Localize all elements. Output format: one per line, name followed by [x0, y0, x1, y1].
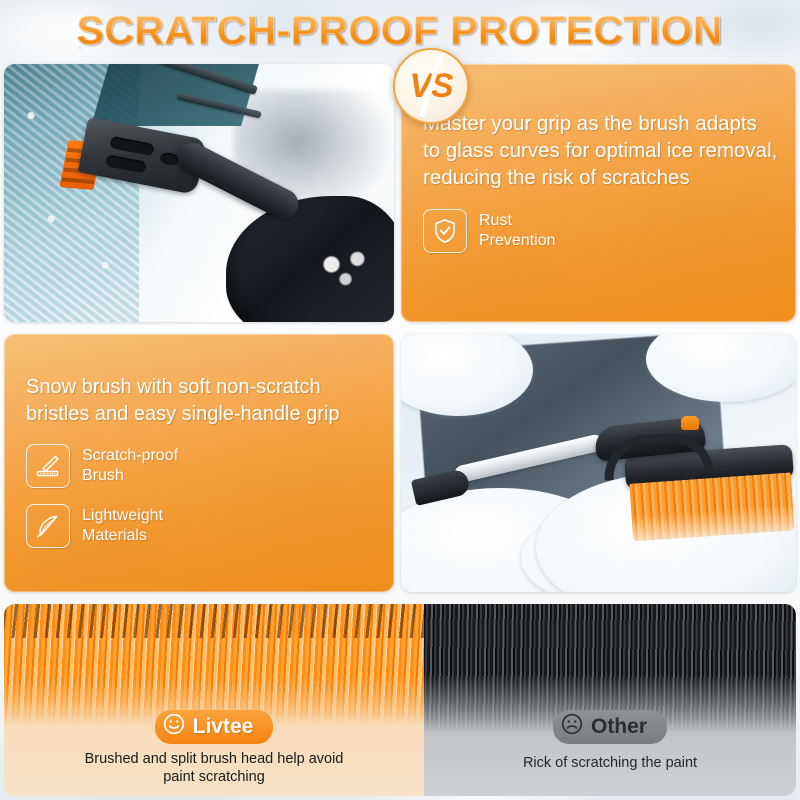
infographic-page: SCRATCH-PROOF PROTECTION: [0, 0, 800, 800]
page-header: SCRATCH-PROOF PROTECTION: [0, 0, 800, 62]
other-badge-row: Other: [424, 710, 796, 744]
livtee-caption: Brushed and split brush head help avoid …: [4, 750, 424, 786]
other-caption: Rick of scratching the paint: [424, 754, 796, 772]
shield-check-icon: [423, 209, 467, 253]
grip-feature-list: Rust Prevention: [423, 209, 778, 253]
snow-brush-tool: [407, 412, 796, 542]
sad-face-icon: [561, 713, 583, 741]
comparison-good-side: Livtee Brushed and split brush head help…: [4, 604, 424, 796]
livtee-badge-label: Livtee: [193, 715, 254, 739]
livtee-badge: Livtee: [155, 710, 274, 744]
snow-on-glove: [314, 246, 384, 292]
page-title: SCRATCH-PROOF PROTECTION: [77, 9, 723, 54]
grip-headline: Master your grip as the brush adapts to …: [423, 110, 778, 191]
snow-brush-photo-panel: [401, 334, 796, 592]
feature-label: Lightweight Materials: [82, 506, 163, 546]
comparison-panel: Livtee Brushed and split brush head help…: [4, 604, 796, 796]
squeegee-brush-icon: [26, 444, 70, 488]
livtee-badge-row: Livtee: [4, 710, 424, 744]
livtee-bristles-image: [4, 604, 424, 724]
feature-label: Rust Prevention: [479, 211, 556, 251]
brush-headline: Snow brush with soft non-scratch bristle…: [26, 374, 376, 428]
smiley-face-icon: [163, 713, 185, 741]
other-badge-label: Other: [591, 715, 647, 739]
brush-feature-panel: Snow brush with soft non-scratch bristle…: [4, 334, 394, 592]
brush-pole-tip: [411, 468, 471, 506]
ice-scraper-tool: [56, 126, 306, 276]
feather-icon: [26, 504, 70, 548]
brush-bristles: [629, 472, 795, 541]
feature-label: Scratch-proof Brush: [82, 446, 178, 486]
vs-badge: VS: [393, 48, 469, 124]
comparison-other-side: Other Rick of scratching the paint: [424, 604, 796, 796]
ice-scraper-photo: [4, 64, 394, 322]
brush-extension-pole: [453, 433, 605, 484]
snow-brush-photo: [401, 334, 796, 592]
feature-lightweight-materials: Lightweight Materials: [26, 504, 376, 548]
other-badge: Other: [553, 710, 667, 744]
feature-rust-prevention: Rust Prevention: [423, 209, 778, 253]
ice-scraper-photo-panel: [4, 64, 394, 322]
feature-scratch-proof-brush: Scratch-proof Brush: [26, 444, 376, 488]
lock-knob-icon: [681, 416, 699, 430]
brush-feature-list: Scratch-proof Brush Lightweight Material…: [26, 444, 376, 548]
